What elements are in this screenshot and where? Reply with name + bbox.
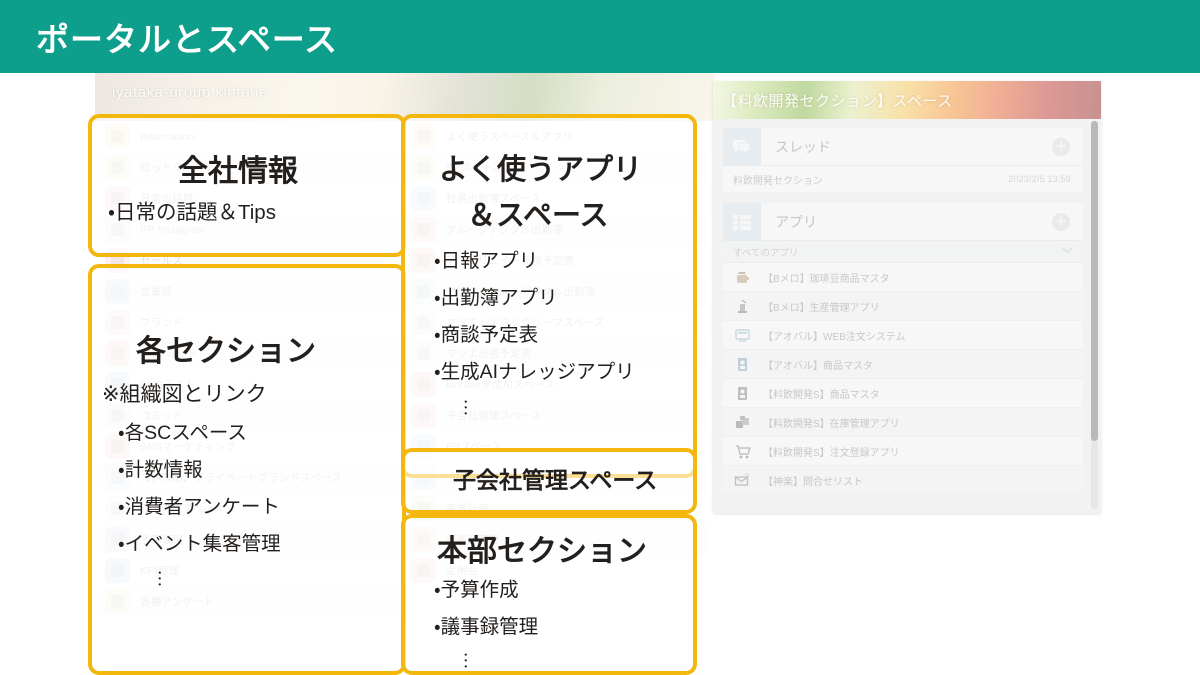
callout-frequent-apps-item: 商談予定表 bbox=[434, 325, 538, 345]
callout-company-info: 全社情報 日常の話題＆Tips bbox=[88, 114, 406, 257]
space-screenshot: 【料飲開発セクション】スペース スレッド ＋ 料飲開発セクション 2023/2/… bbox=[713, 81, 1101, 513]
master-icon bbox=[733, 355, 752, 374]
callout-company-info-title: 全社情報 bbox=[178, 156, 298, 188]
app-label: 【Bメロ】珈琲豆商品マスタ bbox=[763, 270, 890, 285]
thread-timestamp: 2023/2/5 13:59 bbox=[1008, 174, 1071, 184]
callout-sections-item: イベント集客管理 bbox=[118, 534, 281, 554]
boxes-icon bbox=[733, 413, 752, 432]
callout-sections-note: ※組織図とリンク bbox=[102, 384, 267, 406]
app-row[interactable]: ? 【神楽】問合せリスト bbox=[723, 466, 1083, 495]
callout-frequent-apps-ellipsis: ︙ bbox=[457, 399, 469, 416]
app-row[interactable]: 【Bメロ】生産管理アプリ bbox=[723, 292, 1083, 321]
thread-name: 料飲開発セクション bbox=[733, 172, 1008, 187]
callout-subsidiary-title: 子会社管理スペース bbox=[453, 468, 657, 492]
callout-company-info-item: 日常の話題＆Tips bbox=[108, 202, 276, 224]
app-label: 【アオバル】WEB注文システム bbox=[763, 328, 905, 343]
chevron-down-icon bbox=[1062, 246, 1073, 257]
app-label: 【アオバル】商品マスタ bbox=[763, 357, 873, 372]
app-label: 【神楽】問合せリスト bbox=[763, 473, 863, 488]
app-label: 【料飲開発S】注文登録アプリ bbox=[763, 444, 900, 459]
master-icon bbox=[733, 384, 752, 403]
add-app-button[interactable]: ＋ bbox=[1052, 213, 1070, 231]
portal-banner-title: iyataka-group kintone bbox=[112, 84, 268, 101]
threads-title: スレッド bbox=[761, 137, 1052, 157]
callout-headquarters-title: 本部セクション bbox=[437, 536, 647, 568]
svg-text:?: ? bbox=[745, 473, 749, 480]
thread-row[interactable]: 料飲開発セクション 2023/2/5 13:59 bbox=[723, 166, 1083, 193]
app-label: 【料飲開発S】在庫管理アプリ bbox=[763, 415, 900, 430]
app-row[interactable]: 【料飲開発S】注文登録アプリ bbox=[723, 437, 1083, 466]
web-order-icon bbox=[733, 326, 752, 345]
app-label: 【料飲開発S】商品マスタ bbox=[763, 386, 880, 401]
callout-sections-title: 各セクション bbox=[136, 336, 316, 368]
app-filter-dropdown[interactable]: すべてのアプリ bbox=[723, 241, 1083, 263]
space-banner-title: 【料飲開発セクション】スペース bbox=[722, 90, 953, 111]
app-row[interactable]: 【料飲開発S】在庫管理アプリ bbox=[723, 408, 1083, 437]
space-scrollbar[interactable] bbox=[1091, 121, 1098, 509]
callout-sections-ellipsis: ︙ bbox=[151, 570, 163, 587]
app-list: 【Bメロ】珈琲豆商品マスタ 【Bメロ】生産管理アプリ 【アオバル】WEB注文シス… bbox=[723, 263, 1083, 495]
slide-body: iyataka-group kintone Information 知っトク 日… bbox=[0, 73, 1200, 675]
coffee-icon bbox=[733, 268, 752, 287]
cart-icon bbox=[733, 442, 752, 461]
callout-frequent-apps-item: 出勤簿アプリ bbox=[434, 288, 558, 308]
apps-title: アプリ bbox=[761, 212, 1052, 232]
app-row[interactable]: 【アオバル】商品マスタ bbox=[723, 350, 1083, 379]
app-row[interactable]: 【Bメロ】珈琲豆商品マスタ bbox=[723, 263, 1083, 292]
callout-frequent-apps: よく使うアプリ ＆スペース 日報アプリ 出勤簿アプリ 商談予定表 生成AIナレッ… bbox=[401, 114, 697, 478]
callout-sections-item: 計数情報 bbox=[118, 460, 203, 480]
space-banner: 【料飲開発セクション】スペース bbox=[713, 81, 1101, 119]
threads-section: スレッド ＋ 料飲開発セクション 2023/2/5 13:59 bbox=[723, 128, 1083, 193]
app-row[interactable]: 【アオバル】WEB注文システム bbox=[723, 321, 1083, 350]
thread-icon bbox=[723, 128, 761, 166]
callout-headquarters-item: 予算作成 bbox=[434, 580, 519, 600]
mail-q-icon: ? bbox=[733, 471, 752, 490]
callout-sections: 各セクション ※組織図とリンク 各SCスペース 計数情報 消費者アンケート イベ… bbox=[88, 264, 406, 675]
apps-section: アプリ ＋ すべてのアプリ 【Bメロ】珈琲豆商品マスタ 【Bメロ】生産管理アプリ bbox=[723, 203, 1083, 495]
threads-header: スレッド ＋ bbox=[723, 128, 1083, 166]
callout-headquarters-ellipsis: ︙ bbox=[457, 652, 469, 669]
page-header: ポータルとスペース bbox=[0, 0, 1200, 73]
grinder-icon bbox=[733, 297, 752, 316]
add-thread-button[interactable]: ＋ bbox=[1052, 138, 1070, 156]
app-list-icon bbox=[723, 203, 761, 241]
callout-sections-item: 各SCスペース bbox=[118, 423, 247, 443]
callout-headquarters-item: 議事録管理 bbox=[434, 617, 538, 637]
callout-frequent-apps-title-line2: ＆スペース bbox=[467, 201, 609, 232]
app-filter-label: すべてのアプリ bbox=[733, 245, 1062, 259]
page-title: ポータルとスペース bbox=[36, 13, 338, 61]
callout-frequent-apps-title-line1: よく使うアプリ bbox=[439, 155, 642, 186]
callout-frequent-apps-item: 生成AIナレッジアプリ bbox=[434, 362, 635, 382]
callout-subsidiary: 子会社管理スペース bbox=[401, 448, 697, 514]
callout-frequent-apps-item: 日報アプリ bbox=[434, 251, 538, 271]
callout-headquarters: 本部セクション 予算作成 議事録管理 ︙ bbox=[401, 514, 697, 675]
app-label: 【Bメロ】生産管理アプリ bbox=[763, 299, 880, 314]
app-row[interactable]: 【料飲開発S】商品マスタ bbox=[723, 379, 1083, 408]
callout-sections-item: 消費者アンケート bbox=[118, 497, 280, 517]
apps-header: アプリ ＋ bbox=[723, 203, 1083, 241]
